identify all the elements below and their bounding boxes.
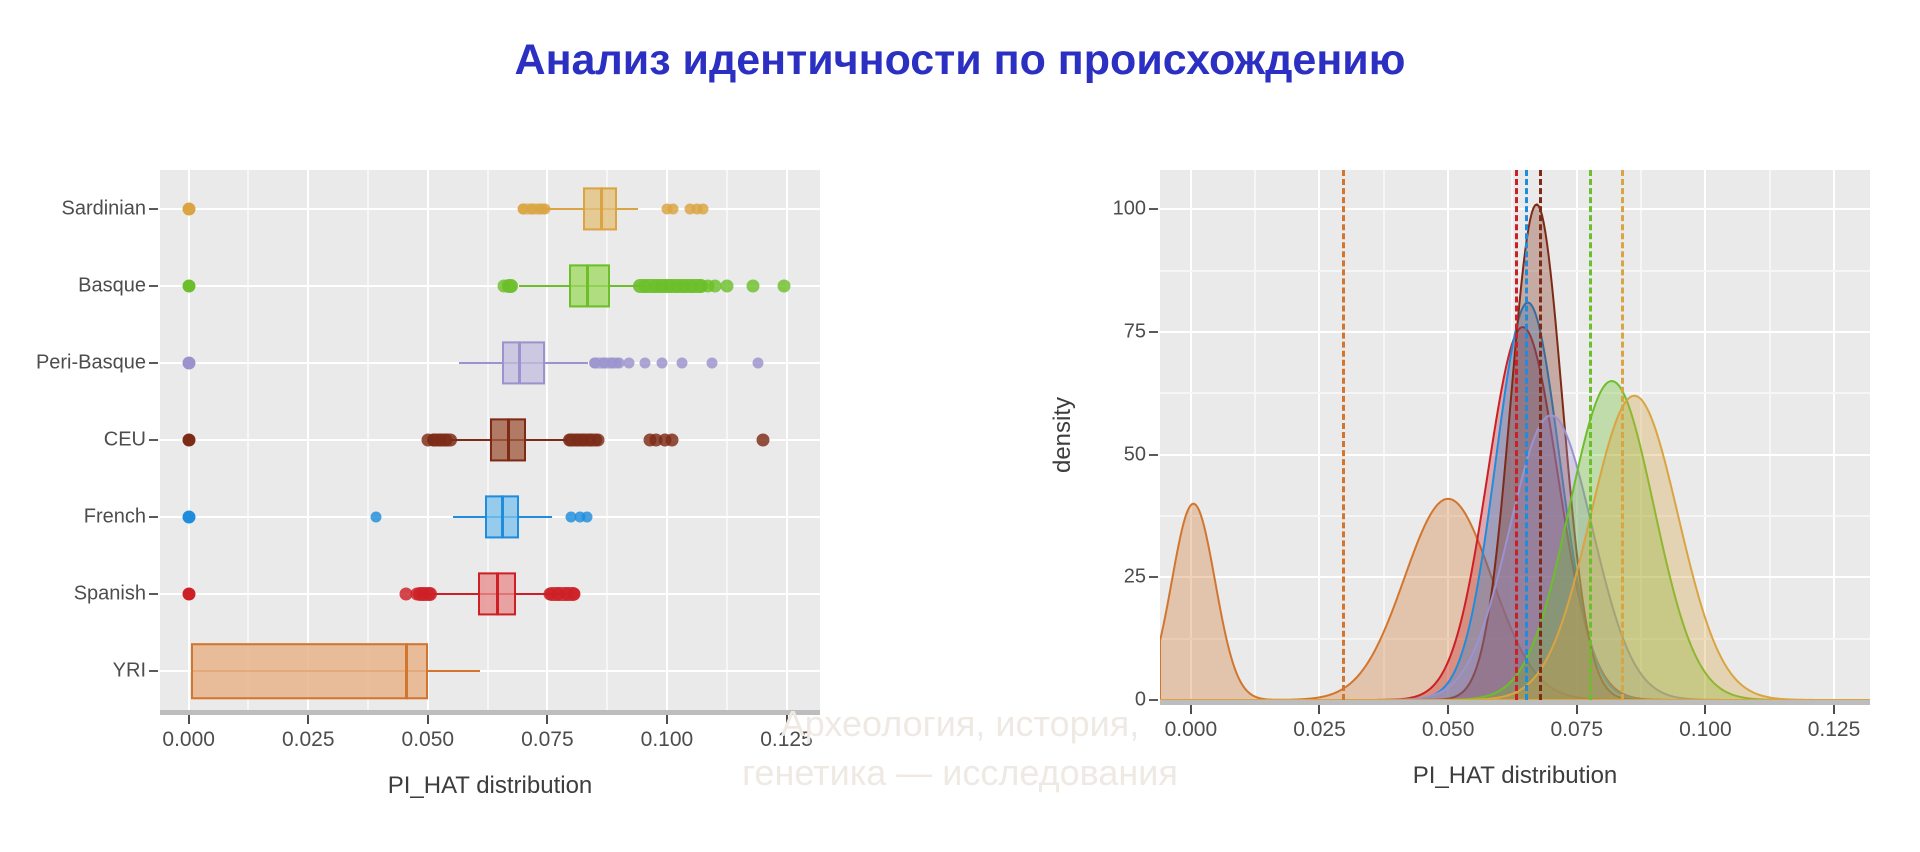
box-rect [191, 644, 428, 700]
density-ytick-dash-4 [1149, 208, 1158, 210]
boxplot-xtick-label-5: 0.125 [760, 728, 813, 752]
density-x-axis-line [1160, 700, 1870, 705]
density-xtick-label-0: 0.000 [1165, 718, 1218, 742]
xtick-mark-1 [307, 715, 309, 724]
density-x-axis-title: PI_HAT distribution [1160, 762, 1870, 790]
boxplot-x-axis-line [160, 710, 820, 715]
density-ytick-label-3: 75 [1124, 320, 1146, 343]
vline-ceu [1539, 170, 1542, 700]
density-xtick-label-1: 0.025 [1293, 718, 1346, 742]
boxplot-xtick-label-3: 0.075 [521, 728, 574, 752]
boxplot-x-axis-title: PI_HAT distribution [160, 772, 820, 800]
density-xtick-mark-0 [1190, 705, 1192, 714]
density-xtick-mark-5 [1833, 705, 1835, 714]
density-xtick-mark-1 [1318, 705, 1320, 714]
boxplot-panel: SardinianBasquePeri-BasqueCEUFrenchSpani… [30, 160, 890, 820]
density-plot-area [1160, 170, 1870, 700]
xtick-mark-0 [188, 715, 190, 724]
density-ytick-label-2: 50 [1124, 443, 1146, 466]
vline-sardinian [1621, 170, 1624, 700]
density-xtick-label-5: 0.125 [1808, 718, 1861, 742]
density-xtick-label-3: 0.075 [1550, 718, 1603, 742]
xtick-mark-3 [546, 715, 548, 724]
vline-spanish [1515, 170, 1518, 700]
vline-french [1525, 170, 1528, 700]
density-xtick-mark-2 [1447, 705, 1449, 714]
vline-basque [1589, 170, 1592, 700]
xtick-mark-2 [427, 715, 429, 724]
boxplot-xtick-label-4: 0.100 [641, 728, 694, 752]
xtick-mark-5 [786, 715, 788, 724]
density-y-axis-title: density [1049, 370, 1077, 500]
page-title: Анализ идентичности по происхождению [0, 36, 1920, 85]
density-ytick-dash-3 [1149, 331, 1158, 333]
density-ytick-label-4: 100 [1113, 198, 1146, 221]
density-ytick-label-0: 0 [1135, 689, 1146, 712]
density-xtick-label-4: 0.100 [1679, 718, 1732, 742]
boxplot-xtick-label-1: 0.025 [282, 728, 335, 752]
boxplot-xtick-label-0: 0.000 [162, 728, 215, 752]
density-xtick-label-2: 0.050 [1422, 718, 1475, 742]
median-line [405, 644, 408, 700]
boxplot-group-yri [30, 160, 890, 820]
xtick-mark-4 [666, 715, 668, 724]
boxplot-xtick-label-2: 0.050 [402, 728, 455, 752]
vline-yri [1342, 170, 1345, 700]
density-ytick-dash-2 [1149, 454, 1158, 456]
density-ytick-dash-0 [1149, 699, 1158, 701]
density-ytick-dash-1 [1149, 576, 1158, 578]
density-xtick-mark-4 [1704, 705, 1706, 714]
density-ytick-label-1: 25 [1124, 566, 1146, 589]
density-panel: 02550751000.0000.0250.0500.0750.1000.125… [1040, 160, 1900, 820]
density-xtick-mark-3 [1576, 705, 1578, 714]
